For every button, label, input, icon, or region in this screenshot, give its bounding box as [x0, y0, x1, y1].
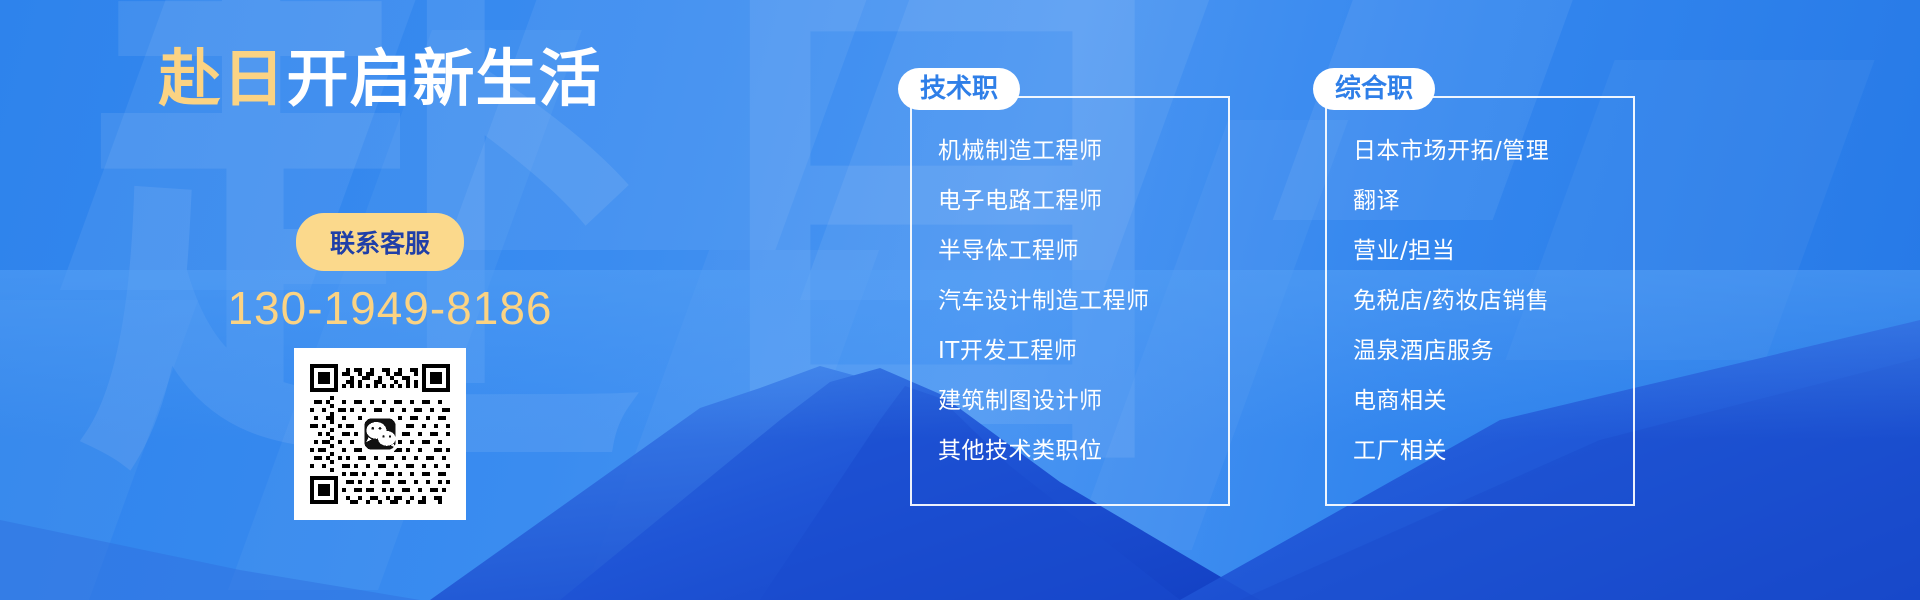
category-badge-technical: 技术职 — [898, 68, 1020, 110]
technical-job-list: 机械制造工程师 电子电路工程师 半导体工程师 汽车设计制造工程师 IT开发工程师… — [938, 126, 1220, 476]
list-item[interactable]: 电子电路工程师 — [938, 176, 1220, 226]
wechat-qr-code[interactable] — [294, 348, 466, 520]
list-item[interactable]: 翻译 — [1353, 176, 1625, 226]
general-job-list: 日本市场开拓/管理 翻译 营业/担当 免税店/药妆店销售 温泉酒店服务 电商相关… — [1353, 126, 1625, 476]
list-item[interactable]: 半导体工程师 — [938, 226, 1220, 276]
page-title: 赴日开启新生活 — [0, 48, 760, 110]
category-badge-general: 综合职 — [1313, 68, 1435, 110]
list-item[interactable]: 其他技术类职位 — [938, 426, 1220, 476]
qr-code-icon — [306, 360, 454, 508]
headline-plain: 开启新生活 — [287, 42, 602, 115]
list-item[interactable]: 免税店/药妆店销售 — [1353, 276, 1625, 326]
list-item[interactable]: 日本市场开拓/管理 — [1353, 126, 1625, 176]
list-item[interactable]: 建筑制图设计师 — [938, 376, 1220, 426]
list-item[interactable]: 电商相关 — [1353, 376, 1625, 426]
list-item[interactable]: 温泉酒店服务 — [1353, 326, 1625, 376]
list-item[interactable]: 工厂相关 — [1353, 426, 1625, 476]
list-item[interactable]: 营业/担当 — [1353, 226, 1625, 276]
list-item[interactable]: IT开发工程师 — [938, 326, 1220, 376]
contact-support-button[interactable]: 联系客服 — [296, 213, 464, 271]
headline-accent: 赴日 — [158, 42, 286, 115]
left-content-block: 赴日开启新生活 联系客服 130-1949-8186 — [0, 0, 760, 600]
phone-number[interactable]: 130-1949-8186 — [0, 281, 780, 335]
list-item[interactable]: 汽车设计制造工程师 — [938, 276, 1220, 326]
list-item[interactable]: 机械制造工程师 — [938, 126, 1220, 176]
promo-banner: 赴日 — [0, 0, 1920, 600]
